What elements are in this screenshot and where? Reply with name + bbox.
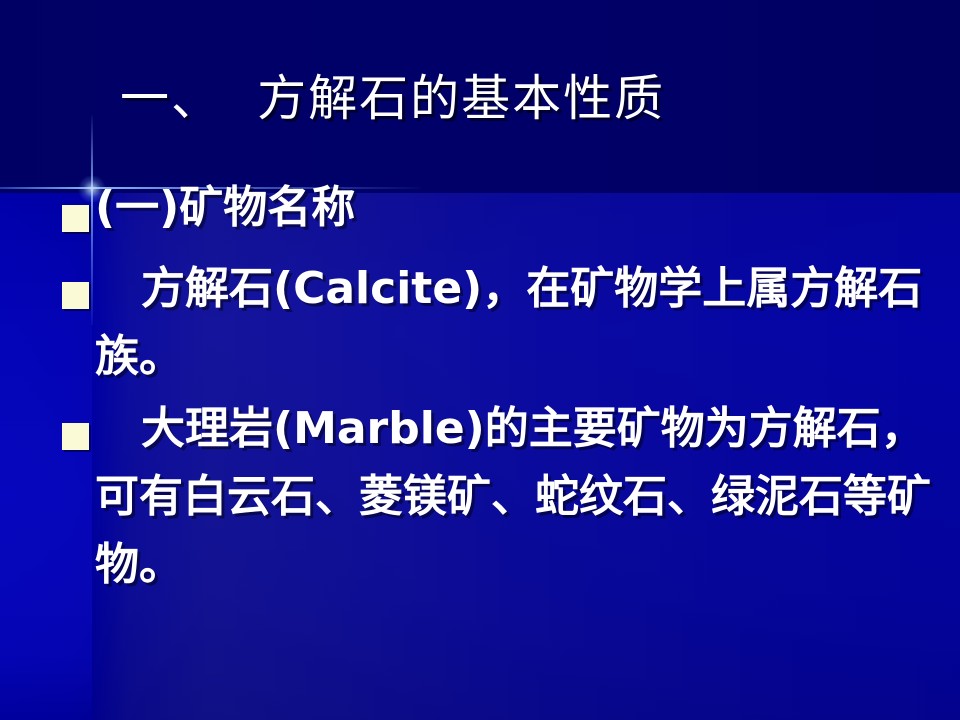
bullet-text-1: (一)矿物名称 [95, 183, 935, 233]
square-bullet-icon [62, 423, 89, 450]
bullet-text-2: 方解石(Calcite)，在矿物学上属方解石族。 [95, 255, 940, 391]
square-bullet-icon [62, 282, 89, 309]
slide-canvas: 一、 方解石的基本性质 (一)矿物名称 方解石(Calcite)，在矿物学上属方… [0, 0, 960, 720]
decorative-vertical-line [91, 115, 93, 325]
background-left-strip [0, 193, 92, 720]
bullet-text-3: 大理岩(Marble)的主要矿物为方解石，可有白云石、菱镁矿、蛇纹石、绿泥石等矿… [95, 395, 955, 599]
square-bullet-icon [62, 205, 89, 232]
slide-title: 一、 方解石的基本性质 [120, 74, 920, 123]
